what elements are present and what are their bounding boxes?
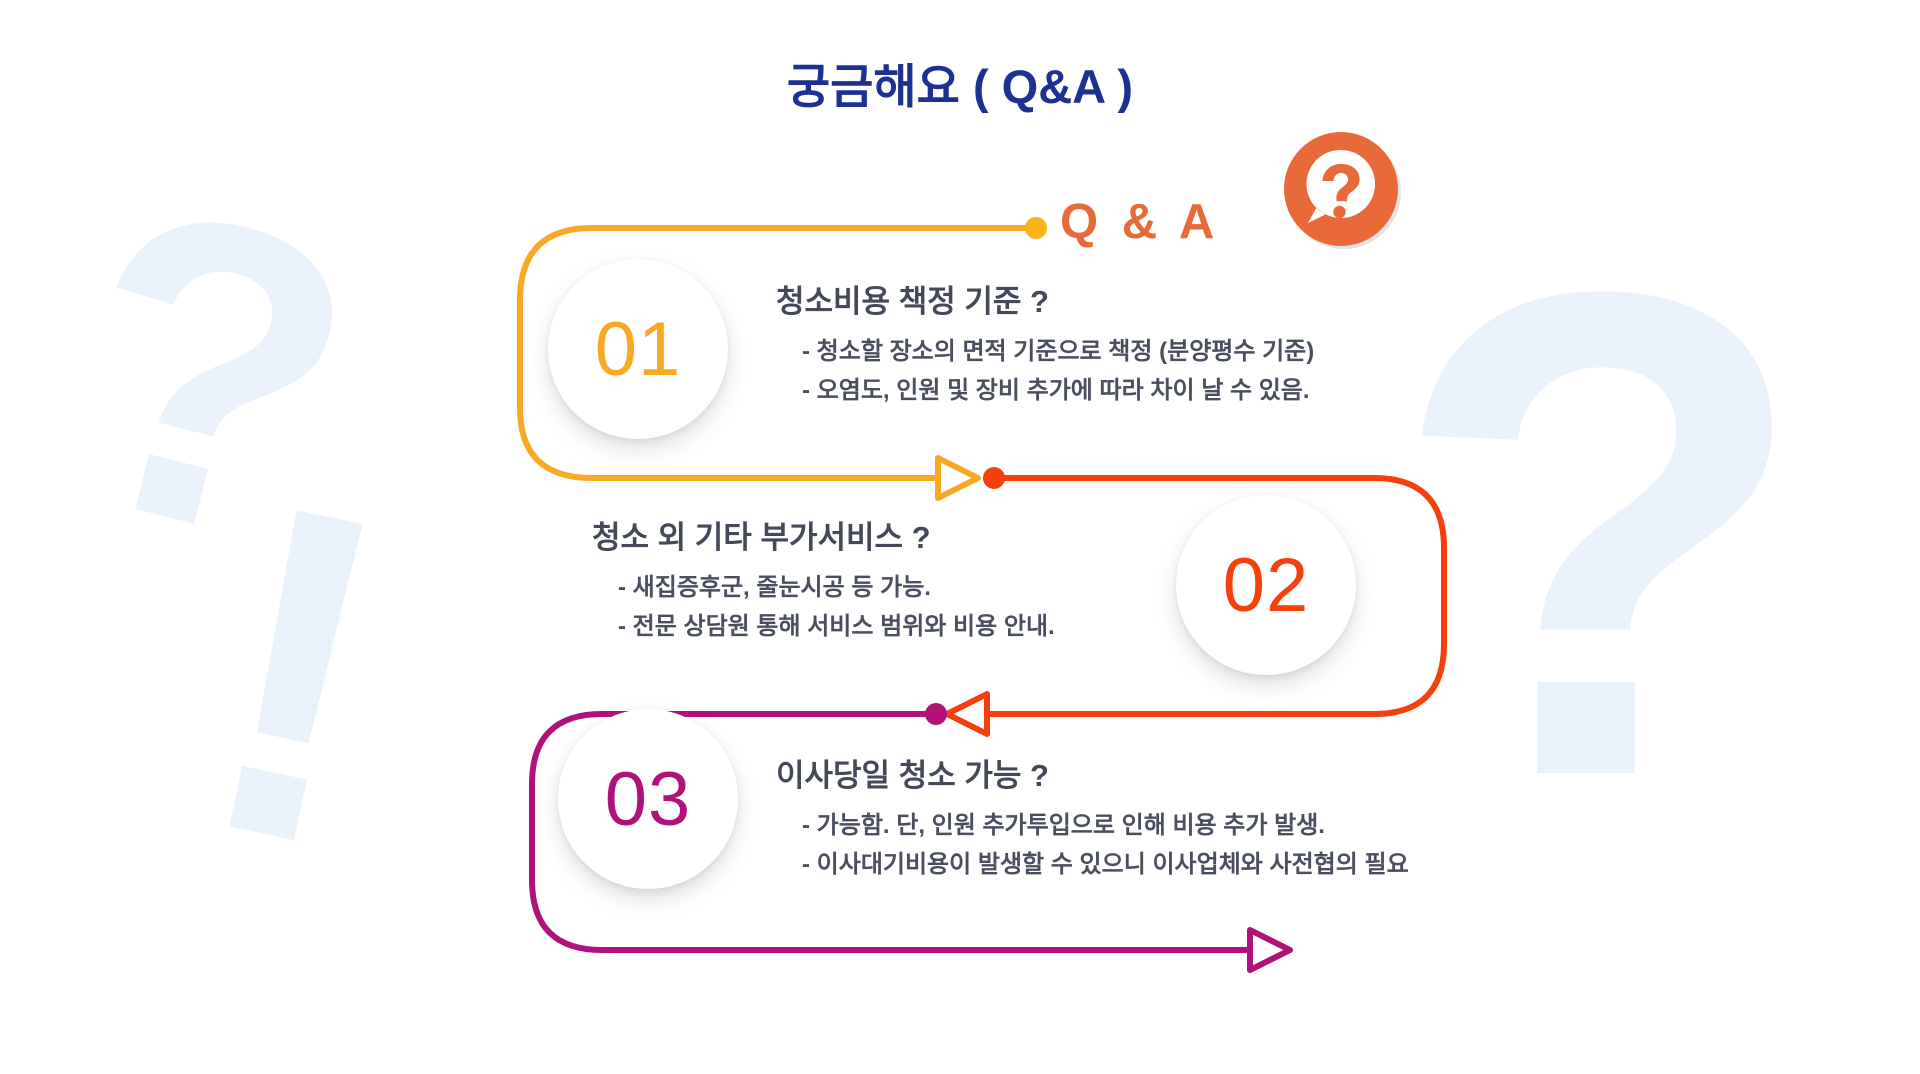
qa-answer-01-line-2: - 오염도, 인원 및 장비 추가에 따라 차이 날 수 있음. bbox=[776, 372, 1314, 411]
step-number-01: 01 bbox=[595, 306, 682, 393]
qa-item-02: 청소 외 기타 부가서비스 ? - 새집증후군, 줄눈시공 등 가능. - 전문… bbox=[592, 512, 1055, 647]
flow-arrow-02 bbox=[947, 694, 987, 734]
flow-dot-02 bbox=[983, 467, 1005, 489]
qa-answer-01-line-1: - 청소할 장소의 면적 기준으로 책정 (분양평수 기준) bbox=[776, 333, 1314, 372]
qa-question-03: 이사당일 청소 가능 ? bbox=[776, 750, 1409, 795]
step-number-03: 03 bbox=[605, 756, 692, 843]
flow-arrow-01 bbox=[938, 458, 978, 498]
qa-question-01: 청소비용 책정 기준 ? bbox=[776, 276, 1314, 321]
infographic-canvas: ? ! ? 궁금해요 ( Q&A ) Q & A 01 02 bbox=[0, 0, 1920, 1074]
flow-arrow-03 bbox=[1250, 930, 1290, 970]
step-number-circle-01: 01 bbox=[548, 259, 728, 439]
qa-logo-text: Q & A bbox=[1060, 194, 1219, 250]
qa-item-01: 청소비용 책정 기준 ? - 청소할 장소의 면적 기준으로 책정 (분양평수 … bbox=[776, 276, 1314, 411]
qa-item-03: 이사당일 청소 가능 ? - 가능함. 단, 인원 추가투입으로 인해 비용 추… bbox=[776, 750, 1409, 885]
qa-answer-03-line-1: - 가능함. 단, 인원 추가투입으로 인해 비용 추가 발생. bbox=[776, 807, 1409, 846]
step-number-02: 02 bbox=[1223, 542, 1310, 629]
qa-answer-02-line-2: - 전문 상담원 통해 서비스 범위와 비용 안내. bbox=[592, 608, 1055, 647]
qa-answer-02-line-1: - 새집증후군, 줄눈시공 등 가능. bbox=[592, 569, 1055, 608]
question-mark-speech-bubble-icon bbox=[1278, 126, 1404, 252]
qa-question-02: 청소 외 기타 부가서비스 ? bbox=[592, 512, 1055, 557]
step-number-circle-03: 03 bbox=[558, 709, 738, 889]
qa-answer-03-line-2: - 이사대기비용이 발생할 수 있으니 이사업체와 사전협의 필요 bbox=[776, 846, 1409, 885]
step-number-circle-02: 02 bbox=[1176, 495, 1356, 675]
flow-dot-01 bbox=[1025, 217, 1047, 239]
flow-dot-03 bbox=[925, 703, 947, 725]
